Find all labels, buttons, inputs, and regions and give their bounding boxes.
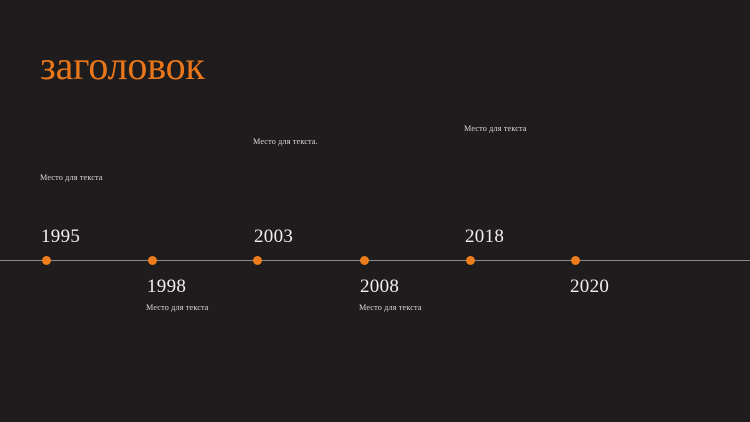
timeline-year-label: 2008 (360, 276, 399, 298)
timeline-dot[interactable] (42, 256, 51, 265)
timeline-year-label: 1998 (147, 276, 186, 298)
timeline-dot[interactable] (360, 256, 369, 265)
timeline-caption: Место для текста (40, 172, 103, 183)
timeline-year-label: 2020 (570, 276, 609, 298)
timeline-year-label: 2018 (465, 226, 504, 248)
timeline-dot[interactable] (466, 256, 475, 265)
timeline-caption: Место для текста (464, 123, 527, 134)
timeline-year-label: 2003 (254, 226, 293, 248)
timeline-year-label: 1995 (41, 226, 80, 248)
timeline-dot[interactable] (253, 256, 262, 265)
timeline-caption: Место для текста (359, 302, 422, 313)
timeline-axis-line (0, 260, 750, 261)
page-title: заголовок (40, 44, 205, 88)
timeline-caption: Место для текста (146, 302, 209, 313)
timeline-slide: заголовок 1995Место для текста1998Место … (0, 0, 750, 422)
timeline-dot[interactable] (148, 256, 157, 265)
timeline-dot[interactable] (571, 256, 580, 265)
timeline-caption: Место для текста. (253, 136, 318, 147)
